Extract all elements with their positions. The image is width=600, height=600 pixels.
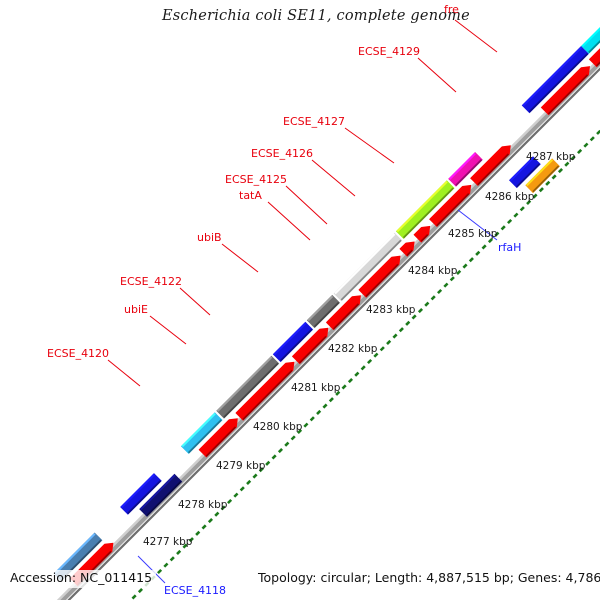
ruler-tick-label: 4286 kbp [485, 192, 534, 203]
ruler-tick-label: 4282 kbp [328, 344, 377, 355]
gene-feature-track[interactable] [54, 0, 600, 586]
gene-label-ubib[interactable]: ubiB [197, 232, 222, 243]
gene-label-ecse-4125[interactable]: ECSE_4125 [225, 174, 287, 185]
ruler-tick-label: 4281 kbp [291, 383, 340, 394]
gene-label-ecse-4129[interactable]: ECSE_4129 [358, 46, 420, 57]
accession-badge: Accession: NC_011415 [6, 570, 156, 588]
gene-label-ecse-4122[interactable]: ECSE_4122 [120, 276, 182, 287]
gene-label-ubie[interactable]: ubiE [124, 304, 148, 315]
topology-status: Topology: circular; Length: 4,887,515 bp… [258, 572, 600, 585]
gene-label-tata[interactable]: tatA [239, 190, 262, 201]
ruler-tick-label: 4287 kbp [526, 152, 575, 163]
gene-label-ecse-4118[interactable]: ECSE_4118 [164, 585, 226, 596]
ruler-tick-label: 4283 kbp [366, 305, 415, 316]
gene-label-ecse-4126[interactable]: ECSE_4126 [251, 148, 313, 159]
gene-label-ecse-4120[interactable]: ECSE_4120 [47, 348, 109, 359]
gene-feature[interactable] [399, 242, 414, 257]
ruler-tick-label: 4279 kbp [216, 461, 265, 472]
genome-viewer-canvas: Escherichia coli SE11, complete genome f… [0, 0, 600, 600]
sequence-axis [34, 0, 600, 600]
page-title: Escherichia coli SE11, complete genome [162, 8, 470, 24]
ruler-tick-label: 4278 kbp [178, 500, 227, 511]
ruler-tick-label: 4284 kbp [408, 266, 457, 277]
gene-label-rfah[interactable]: rfaH [498, 242, 521, 253]
gene-label-ecse-4127[interactable]: ECSE_4127 [283, 116, 345, 127]
ruler-tick-label: 4285 kbp [448, 229, 497, 240]
ruler-tick-label: 4277 kbp [143, 537, 192, 548]
ruler-tick-label: 4280 kbp [253, 422, 302, 433]
genome-graphic-layer [0, 0, 600, 600]
gene-label-fre[interactable]: fre [444, 4, 459, 15]
